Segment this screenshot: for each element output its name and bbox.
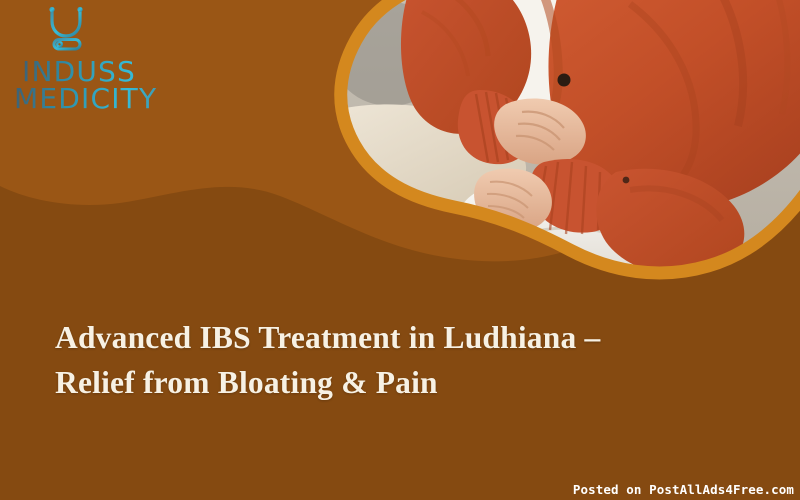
logo-wordmark: INDUSS MEDICITY: [14, 58, 194, 113]
promotional-banner: INDUSS MEDICITY: [0, 0, 800, 500]
headline-line-2: Relief from Bloating & Pain: [55, 361, 655, 406]
posted-on-watermark: Posted on PostAllAds4Free.com: [573, 482, 794, 497]
stethoscope-icon: [40, 6, 102, 56]
hero-photo: [330, 0, 800, 294]
logo-text-line-2: MEDICITY: [14, 85, 194, 112]
page-title: Advanced IBS Treatment in Ludhiana – Rel…: [55, 316, 655, 405]
logo[interactable]: INDUSS MEDICITY: [14, 6, 194, 113]
headline-line-1: Advanced IBS Treatment in Ludhiana –: [55, 316, 655, 361]
hero-photo-blob: [330, 0, 800, 294]
logo-text-line-1: INDUSS: [22, 58, 194, 85]
